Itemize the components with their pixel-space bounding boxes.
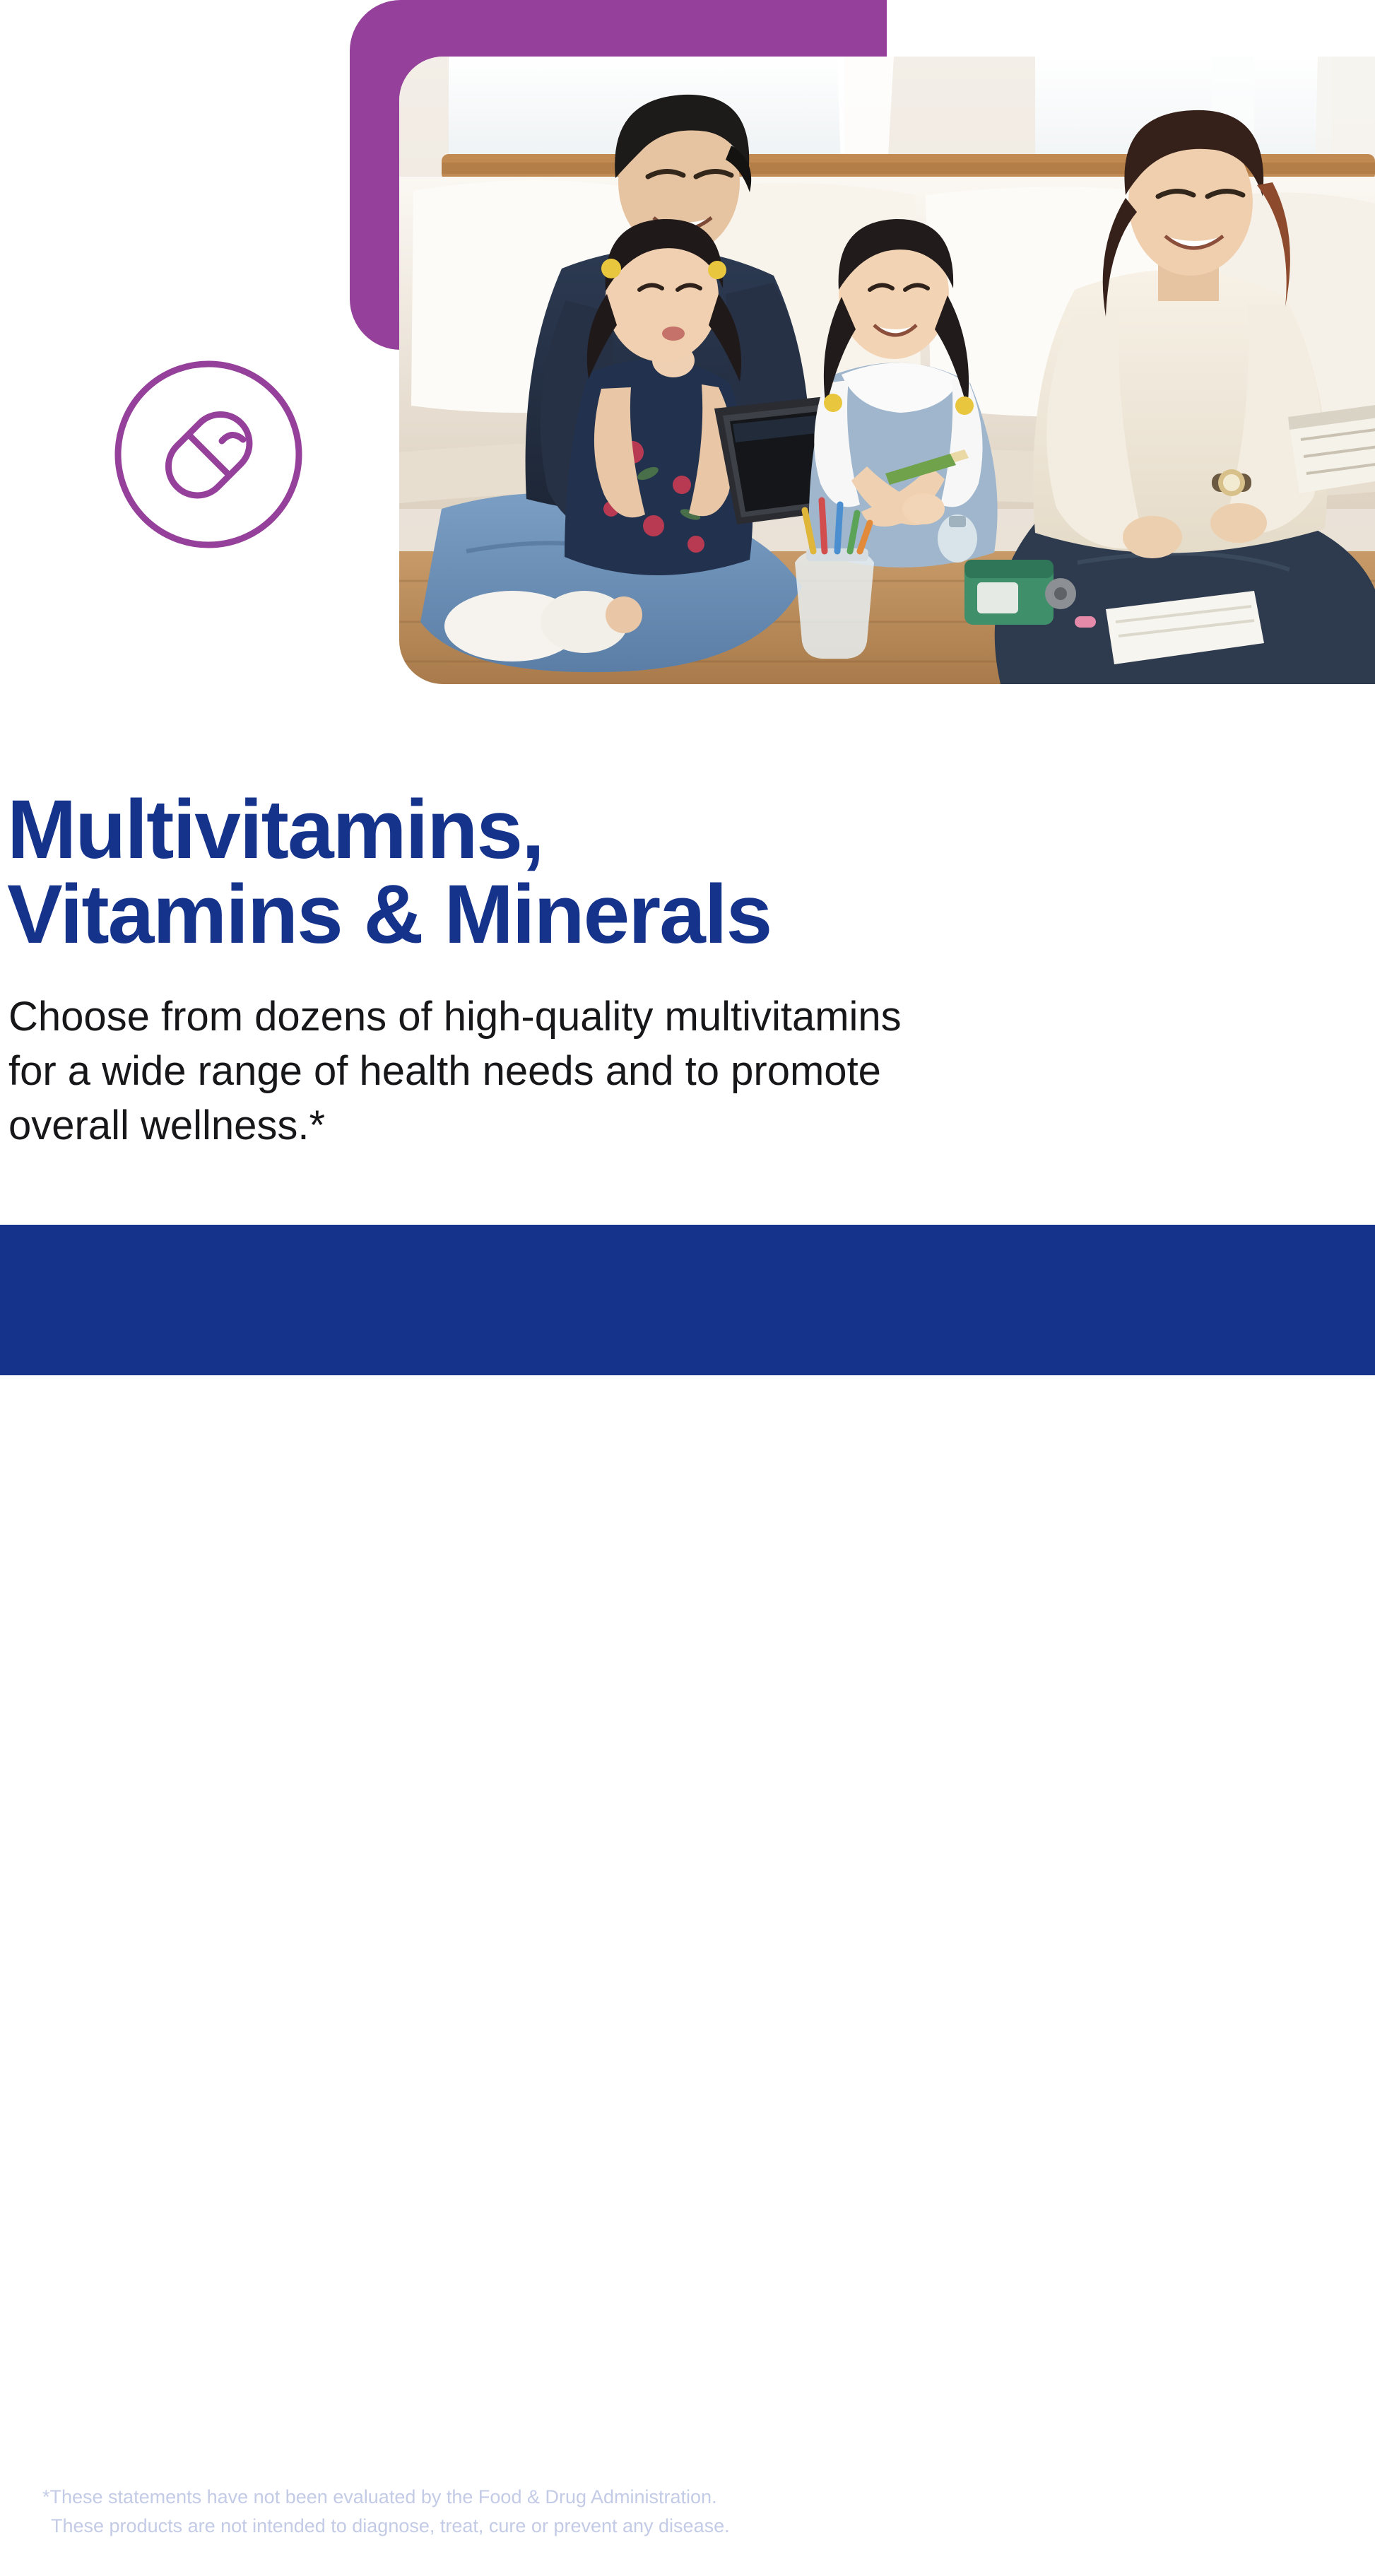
capsule-pill-icon	[106, 350, 311, 555]
promo-banner: Multivitamins, Vitamins & Minerals Choos…	[0, 0, 1375, 1375]
brand-logo: pure encapsulations®	[1064, 2470, 1326, 2576]
page-title: Multivitamins, Vitamins & Minerals	[7, 787, 996, 958]
headline-line-2: Vitamins & Minerals	[7, 872, 996, 957]
headline-line-1: Multivitamins,	[7, 787, 996, 872]
family-photo-illustration	[399, 57, 1375, 684]
disclaimer-line-2: These products are not intended to diagn…	[42, 2512, 730, 2541]
capsule-highlight-arc	[222, 435, 243, 441]
body-line-1: Choose from dozens of high-quality multi…	[8, 989, 1012, 1044]
brand-subtitle: encapsulations	[1067, 2528, 1283, 2562]
body-copy: Choose from dozens of high-quality multi…	[8, 989, 1012, 1153]
capsule-icon-svg	[106, 350, 311, 555]
body-line-2: for a wide range of health needs and to …	[8, 1044, 1012, 1098]
registered-trademark-icon: ®	[1283, 2538, 1294, 2553]
legal-disclaimer: *These statements have not been evaluate…	[42, 2483, 730, 2541]
brand-name: pure	[1064, 2470, 1326, 2530]
footer-band: *These statements have not been evaluate…	[0, 1225, 1375, 1375]
capsule-glyph	[156, 402, 261, 507]
hero-photo	[399, 57, 1375, 684]
brand-subtitle-row: encapsulations®	[1064, 2530, 1326, 2560]
disclaimer-line-1: *These statements have not been evaluate…	[42, 2483, 730, 2512]
body-line-3: overall wellness.*	[8, 1098, 1012, 1153]
